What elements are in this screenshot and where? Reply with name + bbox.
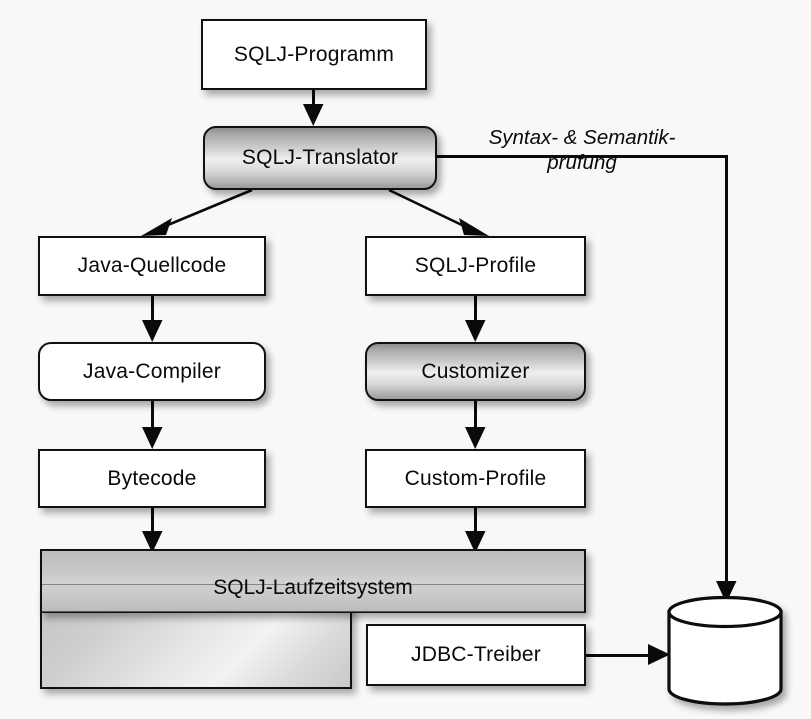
node-sqlj-translator[interactable]: SQLJ-Translator — [203, 126, 437, 190]
node-jdbc-treiber[interactable]: JDBC-Treiber — [366, 624, 586, 686]
node-label: JDBC-Treiber — [411, 643, 541, 667]
node-label: Custom-Profile — [405, 467, 547, 491]
edge-compiler-to-bytecode — [151, 401, 154, 439]
node-custom-profile[interactable]: Custom-Profile — [365, 449, 586, 508]
arrowhead-translator-sqljprofile — [459, 218, 489, 236]
runtime-divider-lower — [42, 611, 584, 612]
node-label: SQLJ-Profile — [415, 254, 536, 278]
edge-customprofile-to-runtime — [474, 508, 477, 540]
node-datenbank-cylinder[interactable] — [655, 593, 805, 719]
edge-translator-to-db-vertical — [725, 155, 728, 584]
annotation-line-1: Syntax- & Semantik- — [452, 125, 712, 150]
node-label: Java-Compiler — [83, 360, 221, 384]
edge-profile-to-customizer — [474, 296, 477, 333]
edge-customizer-to-customprofile — [474, 401, 477, 439]
diagram-canvas: SQLJ-Programm SQLJ-Translator Java-Quell… — [0, 0, 811, 719]
edge-bytecode-to-runtime — [151, 508, 154, 540]
annotation-syntax-semantik: Syntax- & Semantik- prüfung — [452, 125, 712, 175]
node-java-compiler[interactable]: Java-Compiler — [38, 342, 266, 401]
node-sqlj-profile[interactable]: SQLJ-Profile — [365, 236, 586, 296]
runtime-label: SQLJ-Laufzeitsystem — [40, 576, 586, 600]
edge-quellcode-to-compiler — [151, 296, 154, 333]
edge-programm-to-translator — [312, 90, 315, 120]
node-customizer[interactable]: Customizer — [365, 342, 586, 401]
node-label: Customizer — [421, 360, 529, 384]
node-label: SQLJ-Programm — [234, 43, 394, 67]
node-sqlj-programm[interactable]: SQLJ-Programm — [201, 19, 427, 90]
node-label: SQLJ-Translator — [242, 146, 398, 170]
node-bytecode[interactable]: Bytecode — [38, 449, 266, 508]
cylinder-top — [669, 598, 781, 627]
annotation-line-2: prüfung — [452, 150, 712, 175]
node-label: Bytecode — [107, 467, 196, 491]
edge-translator-to-quellcode — [163, 190, 252, 227]
arrowhead-translator-quellcode — [141, 218, 172, 236]
node-java-quellcode[interactable]: Java-Quellcode — [38, 236, 266, 296]
node-label: Java-Quellcode — [78, 254, 227, 278]
edge-translator-to-sqljprofile — [389, 190, 466, 227]
edge-jdbc-to-db — [586, 654, 648, 657]
